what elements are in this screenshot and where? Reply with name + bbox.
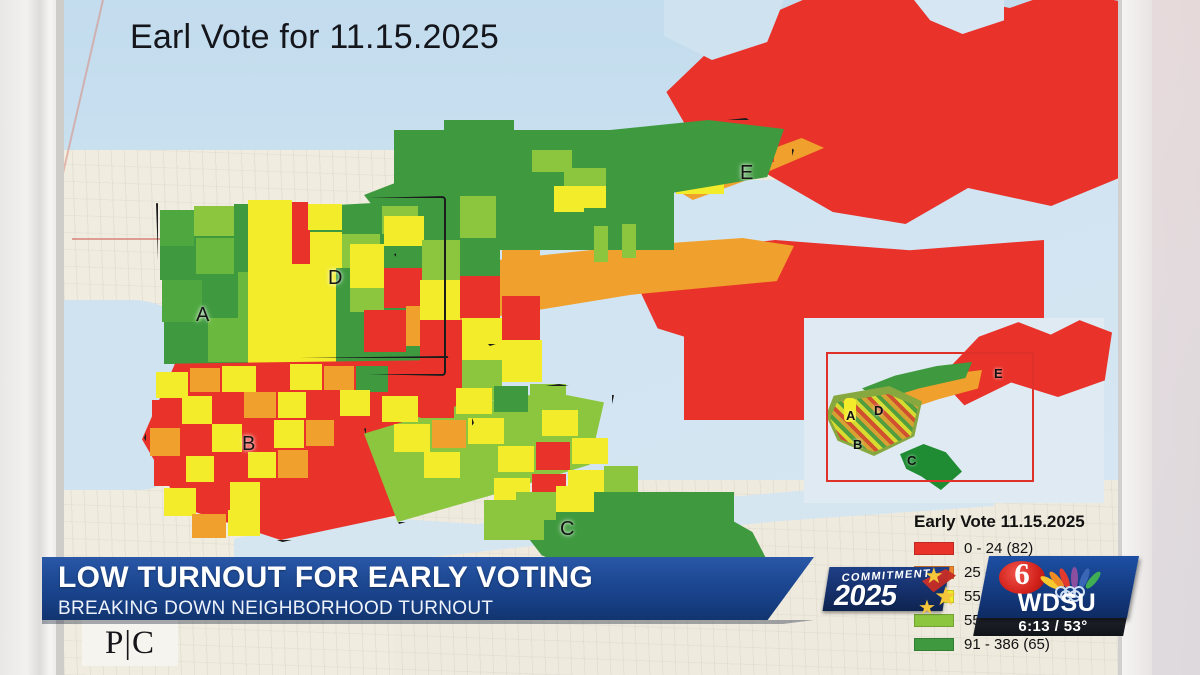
wdsu-wordmark: WDSU [997,589,1117,618]
precinct-block [444,120,514,150]
pc-watermark-text: P|C [105,625,155,662]
legend-swatch [914,542,954,555]
inset-label-a: A [846,408,855,423]
legend-label: 0 - 24 (82) [964,540,1033,557]
commitment-2025-logo: ★ ★ ★ COMMITMENT 2025 [826,561,962,617]
district-label-d: D [328,267,342,290]
nbc-peacock-icon [1053,562,1097,588]
wall-right-tint [1152,0,1200,675]
district-boundary [156,196,446,376]
star-icon: ★ [918,595,936,620]
inset-label-d: D [874,403,883,418]
map-title: Earl Vote for 11.15.2025 [130,18,499,57]
broadcast-frame: Earl Vote for 11.15.2025 A B C D E A B C… [0,0,1200,675]
commitment-year: 2025 [831,580,899,613]
inset-label-b: B [853,437,862,452]
precinct-block [502,340,542,382]
time-temperature: 6:13 / 53° [983,618,1123,635]
legend-label: 91 - 386 (65) [964,636,1050,653]
legend-swatch [914,638,954,651]
district-label-e: E [740,162,753,185]
district-label-b: B [242,433,255,456]
legend-title: Early Vote 11.15.2025 [914,512,1120,532]
district-label-a: A [196,304,209,327]
lower-third-subhead: BREAKING DOWN NEIGHBORHOOD TURNOUT [58,598,493,620]
district-label-c: C [560,518,574,541]
lower-third-shadow [42,620,814,624]
star-icon: ★ [934,581,957,612]
precinct-block [604,466,638,492]
inset-label-e: E [994,366,1003,381]
pc-watermark: P|C [82,620,178,666]
lower-third-headline: LOW TURNOUT FOR EARLY VOTING [58,561,593,595]
inset-label-c: C [907,453,916,468]
wdsu-station-bug: WDSU 6:13 / 53° [983,556,1143,626]
inset-locator-map[interactable]: A B C D E [804,318,1104,503]
legend-row: 91 - 386 (65) [914,634,1120,655]
